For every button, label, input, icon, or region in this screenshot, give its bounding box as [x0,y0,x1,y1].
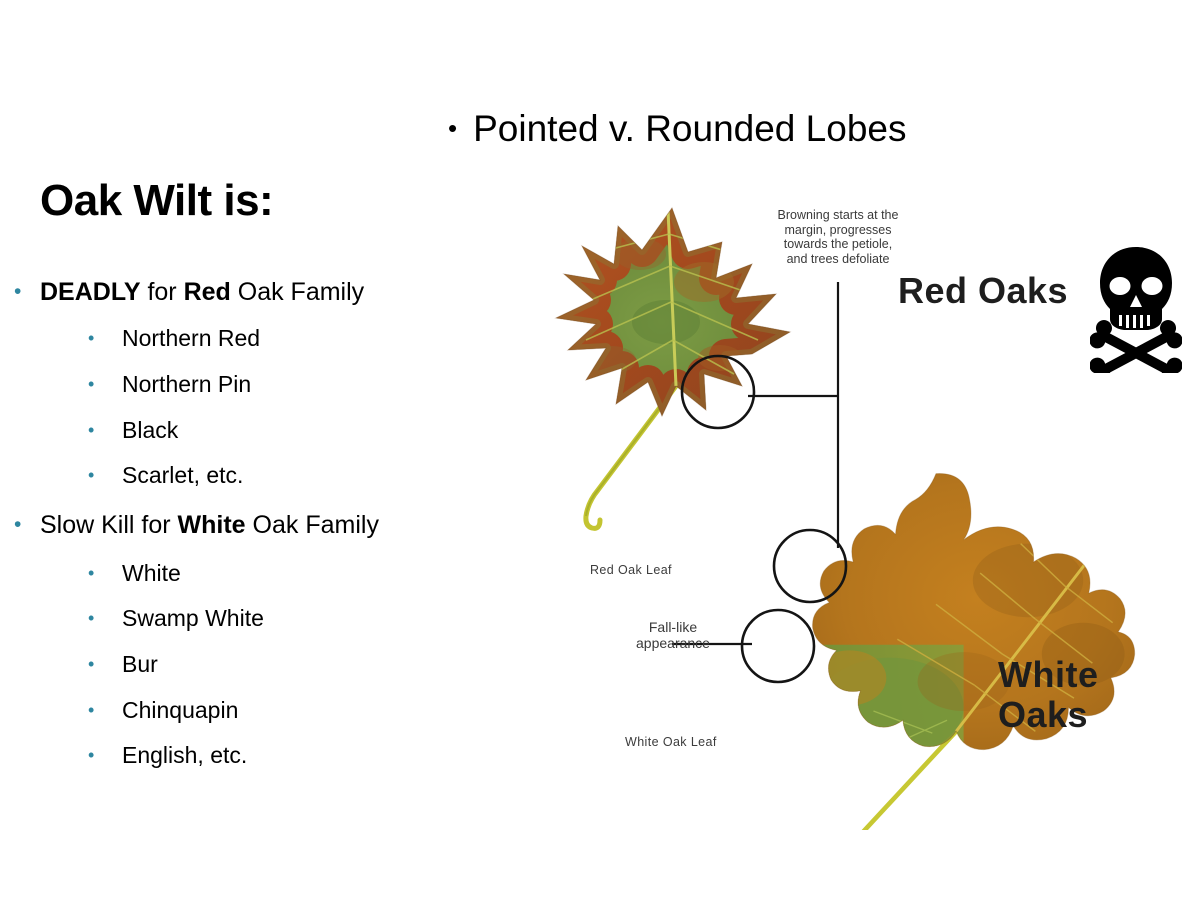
emphasis-deadly: DEADLY [40,278,141,306]
list-item-label: Scarlet, etc. [122,463,243,487]
list-item-label: English, etc. [122,743,247,767]
list-item-label: White [122,561,181,585]
caption-white-oak-leaf: White Oak Leaf [625,735,717,749]
label-white-oaks: White Oaks [998,655,1098,735]
caption-browning-progression: Browning starts at the margin, progresse… [748,208,928,266]
bullet-marker-icon: • [88,652,122,676]
bullet-marker-icon: • [448,115,457,141]
emphasis-red: Red [184,278,231,306]
bullet-marker-icon: • [88,372,122,396]
caption-fall-like-appearance: Fall-like appearance [618,619,728,651]
text-slow-kill-for: Slow Kill for [40,511,178,539]
skull-and-crossbones-icon [1090,245,1182,373]
emphasis-white: White [178,511,246,539]
bullet-marker-icon: • [88,743,122,767]
header-bullet-item: • Pointed v. Rounded Lobes [448,108,906,150]
list-item-english: • English, etc. [88,743,247,767]
text-oak-family: Oak Family [231,278,364,306]
text-oak-family: Oak Family [246,511,379,539]
callout-circle-fall-like [742,610,814,682]
list-item-label: Swamp White [122,606,264,630]
list-item-bur: • Bur [88,652,158,676]
label-red-oaks: Red Oaks [898,270,1068,312]
list-item-label: Black [122,418,178,442]
list-item-swamp-white: • Swamp White [88,606,264,630]
list-item-label: DEADLY for Red Oak Family [40,279,364,305]
bullet-marker-icon: • [88,606,122,630]
list-item-slow-kill-white-oak: • Slow Kill for White Oak Family [14,512,379,538]
list-item-northern-red: • Northern Red [88,326,260,350]
list-item-northern-pin: • Northern Pin [88,372,251,396]
list-item-white: • White [88,561,181,585]
list-item-deadly-red-oak: • DEADLY for Red Oak Family [14,279,364,305]
caption-red-oak-leaf: Red Oak Leaf [590,563,672,577]
bullet-marker-icon: • [88,418,122,442]
list-item-label: Chinquapin [122,698,238,722]
header-bullet-label: Pointed v. Rounded Lobes [473,108,906,150]
list-item-scarlet: • Scarlet, etc. [88,463,243,487]
oak-leaf-comparison-figure: Browning starts at the margin, progresse… [490,170,1200,830]
list-item-black: • Black [88,418,178,442]
bullet-marker-icon: • [88,698,122,722]
list-item-label: Bur [122,652,158,676]
list-item-label: Slow Kill for White Oak Family [40,512,379,538]
bullet-marker-icon: • [14,279,40,305]
bullet-marker-icon: • [88,326,122,350]
list-item-label: Northern Red [122,326,260,350]
text-for: for [141,278,184,306]
bullet-marker-icon: • [88,561,122,585]
list-item-chinquapin: • Chinquapin [88,698,238,722]
list-item-label: Northern Pin [122,372,251,396]
bullet-marker-icon: • [88,463,122,487]
white-oak-leaf-image [798,461,1157,830]
page-title: Oak Wilt is: [40,176,273,226]
bullet-marker-icon: • [14,512,40,538]
